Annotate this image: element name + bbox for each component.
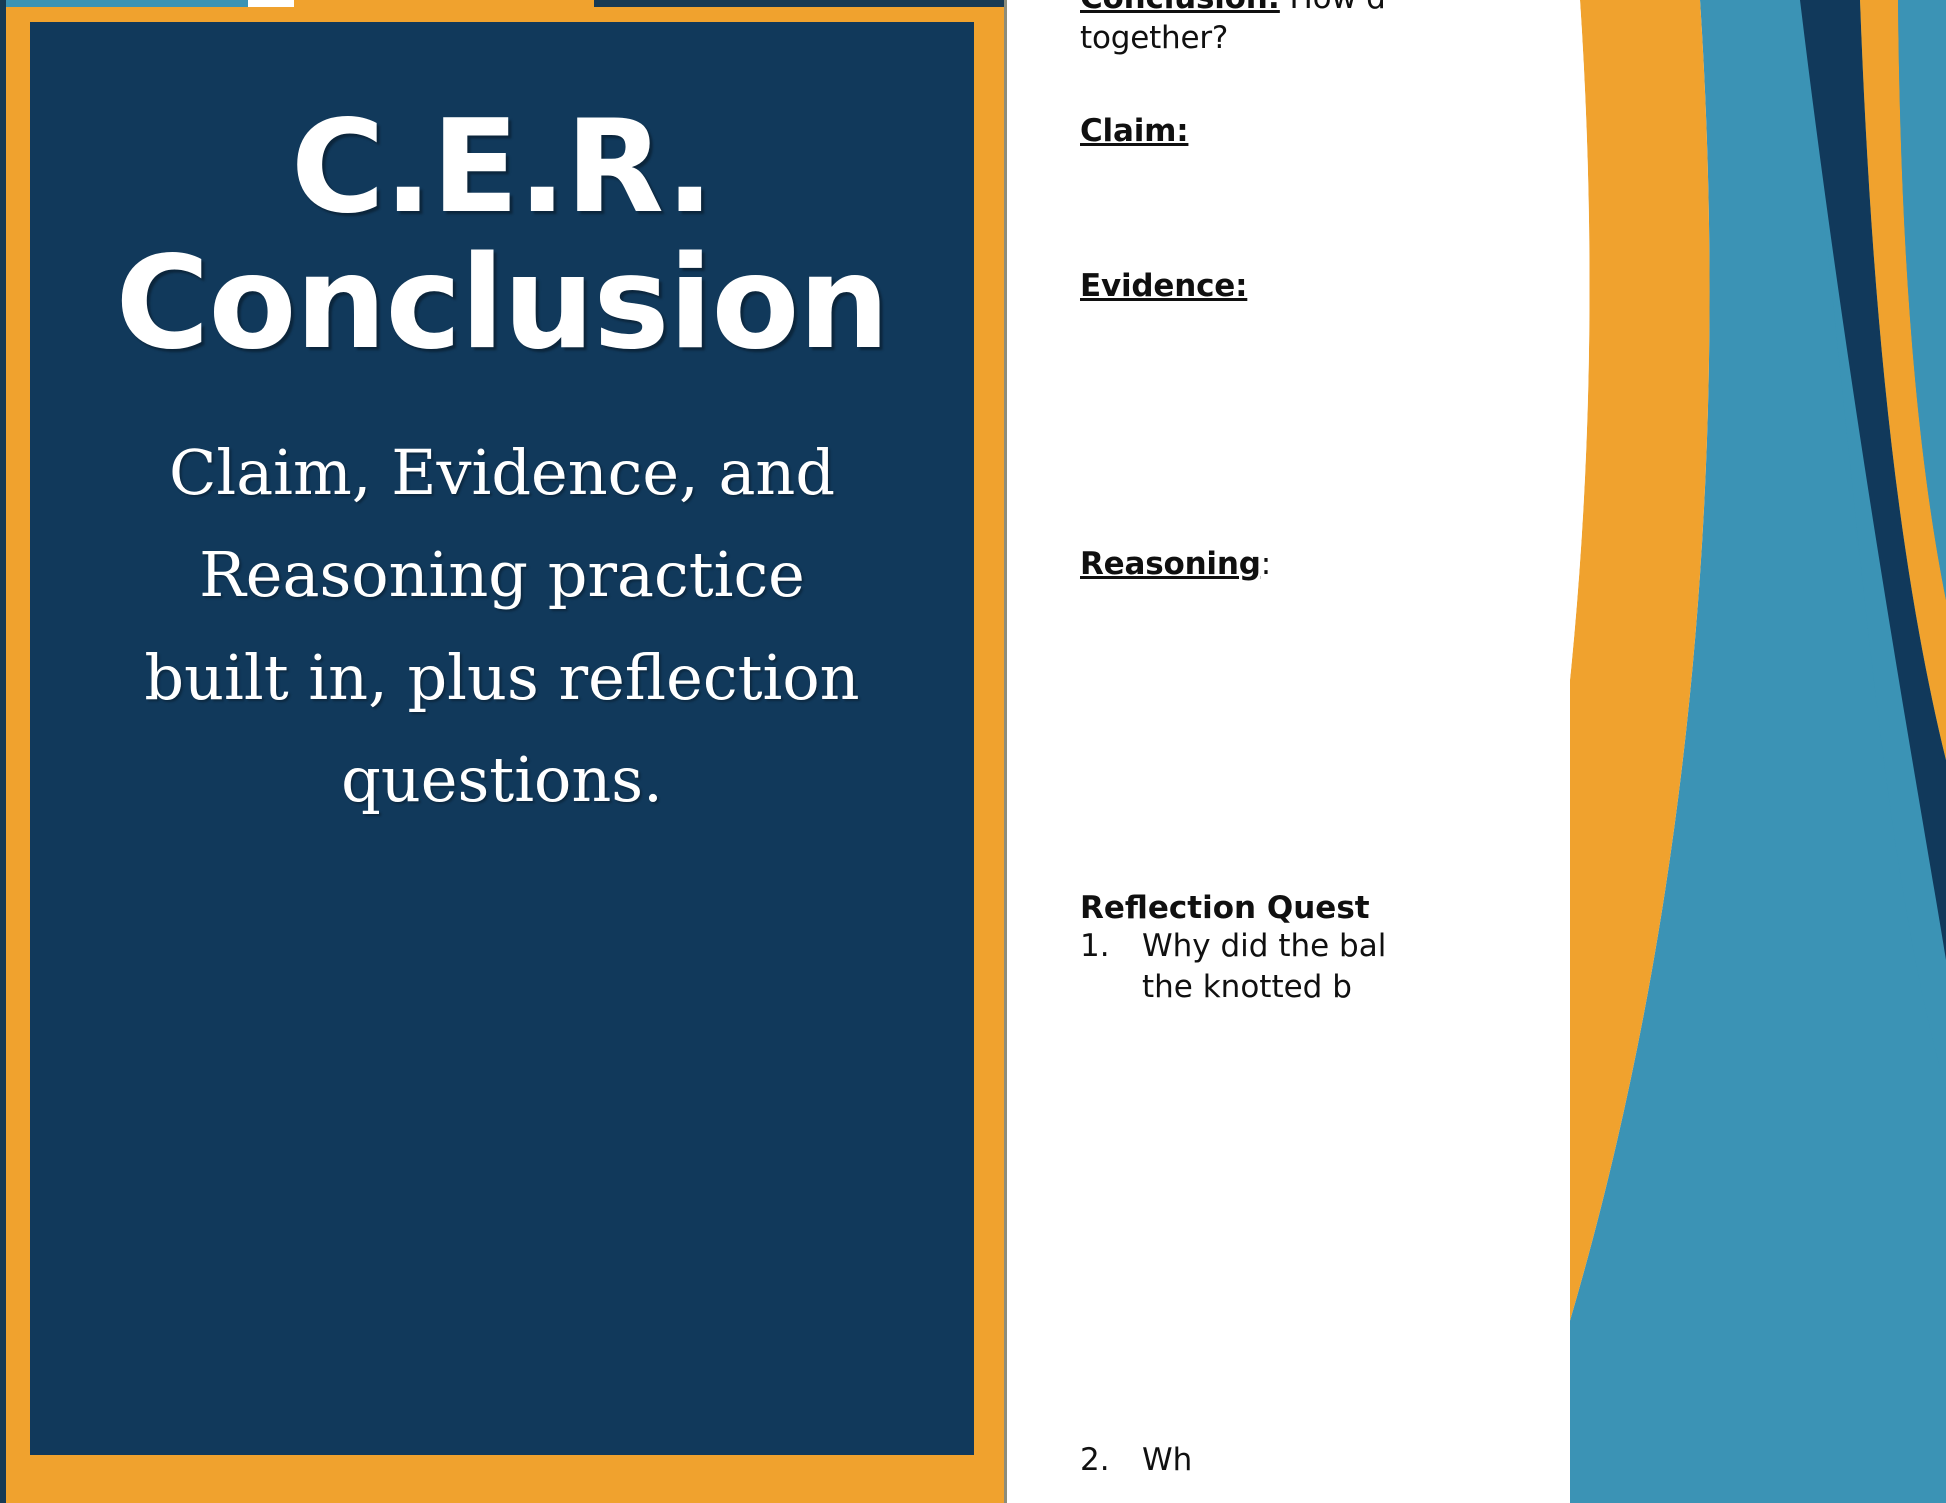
accent-segment-white	[248, 0, 294, 7]
evidence-label: Evidence:	[1080, 268, 1247, 304]
evidence-heading: Evidence:	[1080, 266, 1247, 307]
reasoning-colon: :	[1261, 546, 1271, 582]
slide-canvas: Conclusion: How d together? Claim: Evide…	[0, 0, 1946, 1503]
reflection-questions-list: 1. Why did the bal the knotted b	[1080, 926, 1570, 1008]
question-text: Wh	[1142, 1440, 1562, 1481]
accent-segment-teal	[0, 0, 248, 7]
question-text-line2: the knotted b	[1142, 969, 1352, 1005]
question-number: 2.	[1080, 1440, 1142, 1481]
left-edge-accent	[0, 0, 6, 1503]
conclusion-prompt-line2: together?	[1080, 18, 1228, 59]
card-description: Claim, Evidence, and Reasoning practice …	[122, 422, 882, 831]
title-card-panel: C.E.R. Conclusion Claim, Evidence, and R…	[30, 22, 974, 1455]
conclusion-heading: Conclusion: How d	[1080, 0, 1386, 19]
title-line-1: C.E.R.	[291, 93, 713, 242]
list-item: 2. Wh	[1080, 1440, 1570, 1481]
question-text-line1: Why did the bal	[1142, 928, 1386, 964]
conclusion-label: Conclusion:	[1080, 0, 1280, 16]
reasoning-label: Reasoning	[1080, 546, 1261, 582]
worksheet-document: Conclusion: How d together? Claim: Evide…	[1010, 0, 1570, 1503]
reflection-questions-title: Reflection Quest	[1080, 890, 1570, 926]
reflection-question-2-block: 2. Wh	[1080, 1440, 1570, 1481]
title-card: C.E.R. Conclusion Claim, Evidence, and R…	[0, 0, 1004, 1503]
page-title: C.E.R. Conclusion	[70, 100, 934, 371]
conclusion-prompt: How d	[1290, 0, 1386, 16]
claim-label: Claim:	[1080, 113, 1188, 149]
top-accent-strip	[0, 0, 1004, 7]
card-document-divider	[1004, 0, 1007, 1503]
list-item: 1. Why did the bal the knotted b	[1080, 926, 1570, 1008]
accent-segment-navy	[594, 0, 1004, 7]
claim-heading: Claim:	[1080, 111, 1188, 152]
accent-segment-orange	[294, 0, 594, 7]
question-text: Why did the bal the knotted b	[1142, 926, 1562, 1008]
title-line-2: Conclusion	[116, 229, 889, 378]
question-number: 1.	[1080, 926, 1142, 1008]
reasoning-heading: Reasoning:	[1080, 544, 1271, 585]
reflection-questions-block: Reflection Quest 1. Why did the bal the …	[1080, 890, 1570, 1008]
